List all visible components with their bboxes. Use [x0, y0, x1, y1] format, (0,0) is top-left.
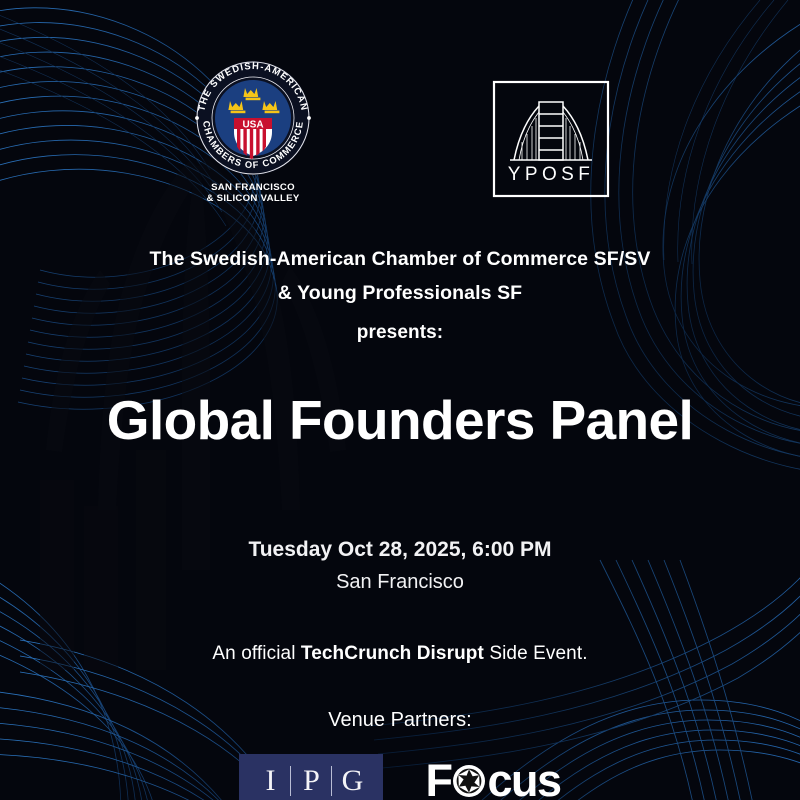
venue-partners-row: I P G F [239, 754, 560, 800]
event-details: Tuesday Oct 28, 2025, 6:00 PM San Franci… [248, 533, 551, 599]
focus-logo: F cus [425, 758, 560, 800]
event-datetime: Tuesday Oct 28, 2025, 6:00 PM [248, 533, 551, 566]
focus-text-before: F [425, 758, 451, 800]
intro-line-2: & Young Professionals SF [150, 276, 651, 310]
side-event-note: An official TechCrunch Disrupt Side Even… [212, 643, 587, 665]
side-event-suffix: Side Event. [484, 643, 588, 664]
logo-row: THE SWEDISH-AMERICAN CHAMBERS OF COMMERC… [0, 54, 800, 206]
camera-aperture-icon [452, 764, 486, 798]
page-title: Global Founders Panel [107, 390, 693, 450]
presents-label: presents: [150, 316, 651, 350]
event-city: San Francisco [248, 566, 551, 599]
yposf-wordmark: YPOSF [508, 164, 594, 185]
intro-block: The Swedish-American Chamber of Commerce… [150, 242, 651, 350]
ipg-letter-p: P [291, 766, 331, 796]
venue-partners-label: Venue Partners: [328, 709, 471, 732]
swedish-american-chamber-logo: THE SWEDISH-AMERICAN CHAMBERS OF COMMERC… [190, 54, 316, 206]
side-event-prefix: An official [212, 643, 301, 664]
event-poster: THE SWEDISH-AMERICAN CHAMBERS OF COMMERC… [0, 0, 800, 800]
poster-content: THE SWEDISH-AMERICAN CHAMBERS OF COMMERC… [0, 0, 800, 800]
sacc-sub-line-1: SAN FRANCISCO [211, 182, 295, 193]
side-event-brand: TechCrunch Disrupt [301, 643, 484, 664]
yposf-logo: YPOSF [492, 80, 610, 198]
intro-line-1: The Swedish-American Chamber of Commerce… [150, 242, 651, 276]
sacc-sub-line-2: & SILICON VALLEY [206, 193, 299, 204]
golden-gate-bridge-icon [510, 102, 592, 160]
ipg-letter-g: G [332, 766, 372, 796]
shield-label: USA [242, 120, 263, 131]
focus-text-after: cus [487, 758, 560, 800]
ipg-letter-i: I [250, 766, 290, 796]
ipg-logo: I P G [239, 754, 383, 800]
